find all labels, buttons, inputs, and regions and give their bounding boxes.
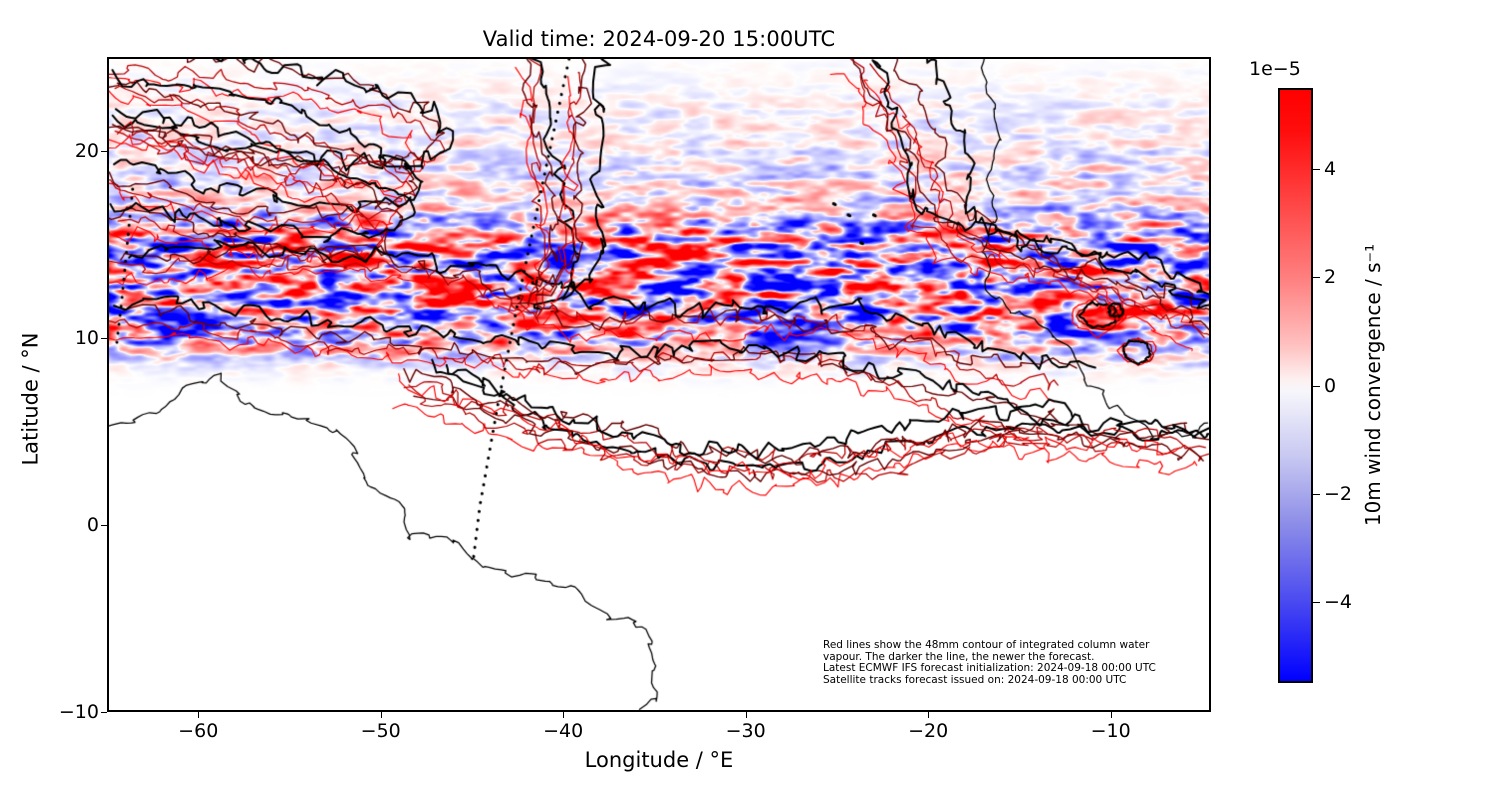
y-tick	[101, 712, 107, 713]
x-tick	[746, 712, 747, 718]
annotation-text: Red lines show the 48mm contour of integ…	[823, 640, 1156, 686]
colorbar-label: 10m wind convergence / s⁻¹	[1359, 85, 1387, 685]
colorbar-tick-label: −2	[1324, 483, 1352, 505]
y-tick-label: 0	[87, 514, 99, 536]
colorbar-tick	[1313, 602, 1320, 603]
x-tick-label: −40	[543, 720, 583, 742]
colorbar-tick	[1313, 169, 1320, 170]
x-tick-label: −60	[178, 720, 218, 742]
colorbar-tick-label: 2	[1324, 266, 1336, 288]
colorbar[interactable]	[1278, 88, 1313, 683]
convergence-heatmap	[109, 59, 1209, 710]
colorbar-tick	[1313, 494, 1320, 495]
page-title: Valid time: 2024-09-20 15:00UTC	[107, 27, 1211, 51]
x-tick	[563, 712, 564, 718]
x-tick-label: −10	[1091, 720, 1131, 742]
x-tick-label: −20	[908, 720, 948, 742]
colorbar-tick-label: 4	[1324, 158, 1336, 180]
colorbar-offset-text: 1e−5	[1249, 58, 1301, 80]
y-tick	[101, 338, 107, 339]
y-tick-label: −10	[59, 701, 99, 723]
x-tick	[928, 712, 929, 718]
figure-canvas: Valid time: 2024-09-20 15:00UTC −60−50−4…	[0, 0, 1500, 800]
x-axis-label: Longitude / °E	[107, 748, 1211, 772]
colorbar-tick-label: −4	[1324, 591, 1352, 613]
x-tick	[381, 712, 382, 718]
y-axis-label: Latitude / °N	[16, 72, 46, 727]
x-tick-label: −50	[361, 720, 401, 742]
y-tick-label: 10	[75, 327, 99, 349]
x-tick	[1111, 712, 1112, 718]
y-tick-label: 20	[75, 140, 99, 162]
colorbar-tick	[1313, 277, 1320, 278]
x-tick	[198, 712, 199, 718]
colorbar-tick-label: 0	[1324, 375, 1336, 397]
annotation-line: Red lines show the 48mm contour of integ…	[823, 640, 1156, 652]
x-tick-label: −30	[726, 720, 766, 742]
colorbar-tick	[1313, 386, 1320, 387]
y-tick	[101, 151, 107, 152]
map-axes[interactable]	[107, 57, 1211, 712]
y-tick	[101, 525, 107, 526]
annotation-line: Satellite tracks forecast issued on: 202…	[823, 675, 1156, 687]
